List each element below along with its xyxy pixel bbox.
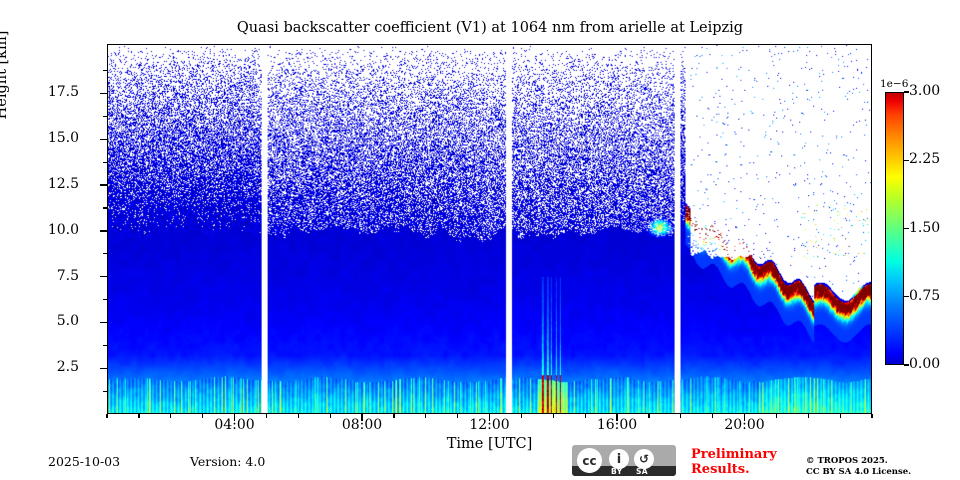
copyright-notice: © TROPOS 2025. CC BY SA 4.0 License. bbox=[806, 456, 911, 478]
y-tick bbox=[100, 276, 107, 277]
x-tick-minor bbox=[106, 414, 107, 418]
x-tick-minor bbox=[553, 414, 554, 418]
x-tick-minor bbox=[170, 414, 171, 418]
y-tick bbox=[100, 230, 107, 231]
y-tick-label: 5.0 bbox=[19, 313, 79, 329]
footer-date: 2025-10-03 bbox=[48, 454, 120, 469]
cc-by-label: BY bbox=[611, 467, 623, 476]
preliminary-line-2: Results. bbox=[691, 462, 801, 477]
y-tick-label: 12.5 bbox=[19, 176, 79, 192]
y-tick-minor bbox=[103, 70, 107, 71]
preliminary-results-notice: Preliminary Results. bbox=[691, 447, 801, 477]
x-tick-minor bbox=[871, 414, 872, 418]
x-tick-minor bbox=[712, 414, 713, 418]
colorbar-tick-label: 3.00 bbox=[909, 83, 940, 99]
colorbar-tick-label: 1.50 bbox=[909, 220, 940, 236]
colorbar-exponent-label: 1e−6 bbox=[880, 78, 908, 90]
x-tick-minor bbox=[680, 414, 681, 418]
y-tick-label: 2.5 bbox=[19, 359, 79, 375]
x-tick-minor bbox=[585, 414, 586, 418]
y-tick-label: 10.0 bbox=[19, 222, 79, 238]
colorbar-tick-label: 0.75 bbox=[909, 288, 940, 304]
x-tick-minor bbox=[648, 414, 649, 418]
figure-canvas: Quasi backscatter coefficient (V1) at 10… bbox=[0, 0, 960, 480]
y-tick-minor bbox=[103, 162, 107, 163]
y-tick bbox=[100, 184, 107, 185]
x-tick-label: 08:00 bbox=[327, 417, 397, 433]
cc-by-person-icon: i bbox=[609, 449, 629, 469]
colorbar bbox=[885, 92, 904, 365]
y-axis-label: Height [km] bbox=[0, 0, 10, 175]
x-tick-minor bbox=[393, 414, 394, 418]
x-tick-minor bbox=[330, 414, 331, 418]
copyright-line-2: CC BY SA 4.0 License. bbox=[806, 467, 911, 478]
y-tick-minor bbox=[103, 391, 107, 392]
cc-logo-icon: cc bbox=[577, 448, 602, 473]
y-tick-label: 15.0 bbox=[19, 130, 79, 146]
x-tick-minor bbox=[776, 414, 777, 418]
y-tick bbox=[100, 322, 107, 323]
y-tick-minor bbox=[103, 116, 107, 117]
x-tick-minor bbox=[521, 414, 522, 418]
x-tick-minor bbox=[425, 414, 426, 418]
y-tick-minor bbox=[103, 207, 107, 208]
x-tick-minor bbox=[808, 414, 809, 418]
x-tick-label: 12:00 bbox=[455, 417, 525, 433]
x-tick-minor bbox=[298, 414, 299, 418]
preliminary-line-1: Preliminary bbox=[691, 447, 801, 462]
creative-commons-badge-icon: cc i ↺ BY SA bbox=[572, 445, 676, 476]
x-tick-minor bbox=[138, 414, 139, 418]
plot-axes-area bbox=[107, 44, 872, 414]
x-tick-minor bbox=[266, 414, 267, 418]
x-tick-label: 20:00 bbox=[710, 417, 780, 433]
y-tick-label: 7.5 bbox=[19, 268, 79, 284]
quicklook-heatmap bbox=[108, 45, 871, 413]
y-tick-minor bbox=[103, 299, 107, 300]
colorbar-tick-label: 0.00 bbox=[909, 356, 940, 372]
x-tick-minor bbox=[202, 414, 203, 418]
page-title: Quasi backscatter coefficient (V1) at 10… bbox=[107, 19, 873, 37]
copyright-line-1: © TROPOS 2025. bbox=[806, 456, 911, 467]
footer-version: Version: 4.0 bbox=[190, 454, 265, 469]
x-tick-minor bbox=[457, 414, 458, 418]
y-tick-minor bbox=[103, 253, 107, 254]
x-tick-minor bbox=[840, 414, 841, 418]
y-tick-minor bbox=[103, 345, 107, 346]
colorbar-tick-label: 2.25 bbox=[909, 151, 940, 167]
cc-sharealike-arrow-icon: ↺ bbox=[634, 449, 654, 469]
x-tick-label: 16:00 bbox=[582, 417, 652, 433]
cc-sa-label: SA bbox=[636, 467, 648, 476]
y-tick-label: 17.5 bbox=[19, 84, 79, 100]
x-tick-label: 04:00 bbox=[200, 417, 270, 433]
y-tick bbox=[100, 368, 107, 369]
y-tick bbox=[100, 93, 107, 94]
y-tick bbox=[100, 139, 107, 140]
